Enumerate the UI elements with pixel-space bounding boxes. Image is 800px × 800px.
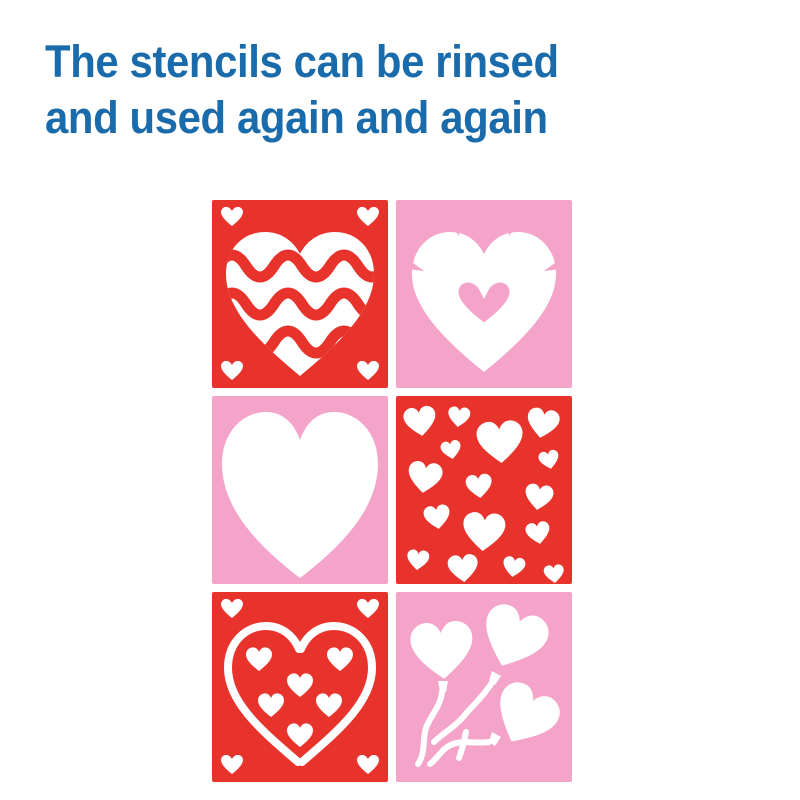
heart-balloons-icon — [396, 592, 572, 782]
stencil-outlined-heart-with-mini-hearts — [212, 592, 388, 782]
stencil-radiating-heart — [396, 200, 572, 388]
scattered-hearts-icon — [396, 396, 572, 584]
stencil-heart-balloons — [396, 592, 572, 782]
stencil-solid-heart — [212, 396, 388, 584]
solid-heart-icon — [212, 396, 388, 584]
outlined-heart-with-mini-hearts-icon — [212, 592, 388, 782]
stencil-wavy-striped-heart — [212, 200, 388, 388]
radiating-heart-icon — [396, 200, 572, 388]
stencil-grid — [212, 200, 572, 782]
wavy-striped-heart-icon — [212, 200, 388, 388]
stencil-scattered-hearts — [396, 396, 572, 584]
page-title: The stencils can be rinsed and used agai… — [45, 34, 715, 146]
